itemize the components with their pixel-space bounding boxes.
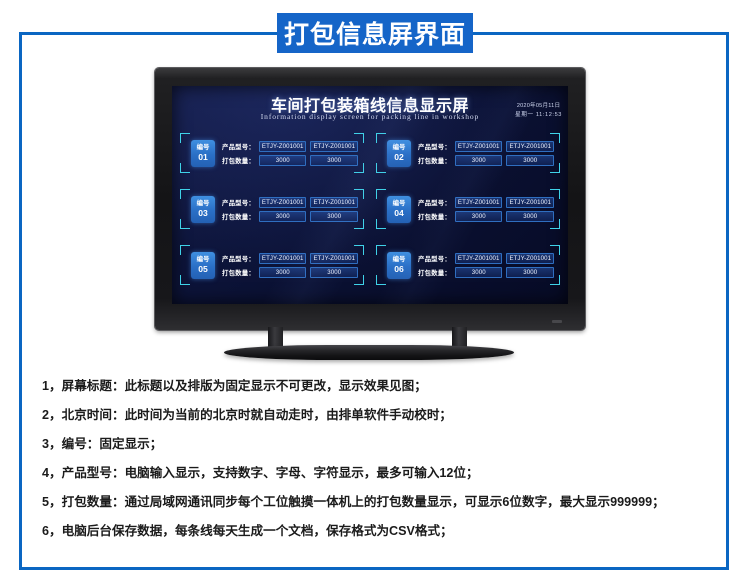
card-number-value: 03 (198, 209, 208, 218)
corner-bracket-icon (376, 245, 386, 255)
card-number-label: 编号 (197, 145, 210, 151)
model-value-a: ETJY-Z001001 (259, 141, 307, 152)
tv-power-indicator-icon (552, 320, 562, 323)
corner-bracket-icon (550, 133, 560, 143)
card-number-label: 编号 (393, 201, 406, 207)
quantity-value-a: 3000 (259, 211, 307, 222)
screen-header: 车间打包装箱线信息显示屏 Information display screen … (172, 86, 568, 133)
screen-clock: 2020年05月11日 星期一 11:12:53 (515, 102, 562, 120)
corner-bracket-icon (354, 163, 364, 173)
quantity-value-a: 3000 (259, 267, 307, 278)
card-number-badge: 编号 01 (191, 140, 215, 167)
card-number-badge: 编号 04 (387, 196, 411, 223)
model-label: 产品型号： (418, 198, 451, 207)
model-value-b: ETJY-Z001001 (506, 197, 554, 208)
corner-bracket-icon (354, 189, 364, 199)
model-value-a: ETJY-Z001001 (455, 197, 503, 208)
model-row: 产品型号： ETJY-Z001001 ETJY-Z001001 (418, 253, 554, 264)
model-value-b: ETJY-Z001001 (506, 141, 554, 152)
quantity-row: 打包数量： 3000 3000 (418, 155, 554, 166)
model-label: 产品型号： (418, 142, 451, 151)
model-label: 产品型号： (222, 254, 255, 263)
corner-bracket-icon (550, 163, 560, 173)
corner-bracket-icon (354, 219, 364, 229)
corner-bracket-icon (550, 219, 560, 229)
card-fields: 产品型号： ETJY-Z001001 ETJY-Z001001 打包数量： 30… (222, 141, 358, 166)
corner-bracket-icon (354, 133, 364, 143)
model-value-b: ETJY-Z001001 (506, 253, 554, 264)
tv-illustration: 车间打包装箱线信息显示屏 Information display screen … (155, 68, 585, 365)
card-number-badge: 编号 02 (387, 140, 411, 167)
packing-card: 编号 05 产品型号： ETJY-Z001001 ETJY-Z001001 打包… (180, 245, 364, 285)
quantity-label: 打包数量： (418, 268, 451, 277)
quantity-value-a: 3000 (455, 267, 503, 278)
card-number-value: 06 (394, 265, 404, 274)
quantity-row: 打包数量： 3000 3000 (222, 267, 358, 278)
corner-bracket-icon (180, 189, 190, 199)
corner-bracket-icon (180, 219, 190, 229)
quantity-row: 打包数量： 3000 3000 (222, 211, 358, 222)
corner-bracket-icon (550, 245, 560, 255)
quantity-value-b: 3000 (310, 267, 358, 278)
corner-bracket-icon (376, 189, 386, 199)
tv-bezel: 车间打包装箱线信息显示屏 Information display screen … (155, 68, 585, 330)
packing-card: 编号 02 产品型号： ETJY-Z001001 ETJY-Z001001 打包… (376, 133, 560, 173)
quantity-value-b: 3000 (506, 155, 554, 166)
page-header: 打包信息屏界面 (0, 0, 750, 66)
card-number-value: 04 (394, 209, 404, 218)
packing-card: 编号 06 产品型号： ETJY-Z001001 ETJY-Z001001 打包… (376, 245, 560, 285)
packing-card: 编号 01 产品型号： ETJY-Z001001 ETJY-Z001001 打包… (180, 133, 364, 173)
tv-stand-base (224, 345, 514, 360)
quantity-row: 打包数量： 3000 3000 (222, 155, 358, 166)
card-number-label: 编号 (197, 201, 210, 207)
model-value-b: ETJY-Z001001 (310, 253, 358, 264)
model-value-a: ETJY-Z001001 (455, 253, 503, 264)
corner-bracket-icon (376, 219, 386, 229)
packing-card: 编号 03 产品型号： ETJY-Z001001 ETJY-Z001001 打包… (180, 189, 364, 229)
corner-bracket-icon (354, 275, 364, 285)
quantity-value-a: 3000 (455, 155, 503, 166)
quantity-value-b: 3000 (506, 267, 554, 278)
card-fields: 产品型号： ETJY-Z001001 ETJY-Z001001 打包数量： 30… (418, 253, 554, 278)
quantity-row: 打包数量： 3000 3000 (418, 267, 554, 278)
packing-line-card-grid: 编号 01 产品型号： ETJY-Z001001 ETJY-Z001001 打包… (180, 133, 560, 285)
page-title: 打包信息屏界面 (277, 13, 473, 53)
model-value-b: ETJY-Z001001 (310, 141, 358, 152)
model-row: 产品型号： ETJY-Z001001 ETJY-Z001001 (418, 197, 554, 208)
model-label: 产品型号： (222, 142, 255, 151)
quantity-label: 打包数量： (222, 212, 255, 221)
quantity-label: 打包数量： (222, 268, 255, 277)
model-row: 产品型号： ETJY-Z001001 ETJY-Z001001 (222, 253, 358, 264)
model-row: 产品型号： ETJY-Z001001 ETJY-Z001001 (222, 197, 358, 208)
corner-bracket-icon (180, 245, 190, 255)
model-label: 产品型号： (222, 198, 255, 207)
card-number-value: 02 (394, 153, 404, 162)
packing-card: 编号 04 产品型号： ETJY-Z001001 ETJY-Z001001 打包… (376, 189, 560, 229)
card-fields: 产品型号： ETJY-Z001001 ETJY-Z001001 打包数量： 30… (222, 197, 358, 222)
tv-screen: 车间打包装箱线信息显示屏 Information display screen … (172, 86, 568, 304)
card-number-label: 编号 (393, 145, 406, 151)
corner-bracket-icon (180, 163, 190, 173)
clock-time: 星期一 11:12:53 (515, 111, 562, 120)
corner-bracket-icon (376, 163, 386, 173)
quantity-label: 打包数量： (222, 156, 255, 165)
note-item: 5，打包数量：通过局域网通讯同步每个工位触摸一体机上的打包数量显示，可显示6位数… (42, 488, 714, 517)
card-number-badge: 编号 03 (191, 196, 215, 223)
note-item: 3，编号：固定显示； (42, 430, 714, 459)
card-number-badge: 编号 06 (387, 252, 411, 279)
card-number-value: 01 (198, 153, 208, 162)
screen-subtitle: Information display screen for packing l… (172, 112, 568, 121)
quantity-row: 打包数量： 3000 3000 (418, 211, 554, 222)
quantity-value-a: 3000 (259, 155, 307, 166)
card-fields: 产品型号： ETJY-Z001001 ETJY-Z001001 打包数量： 30… (418, 197, 554, 222)
quantity-value-b: 3000 (310, 155, 358, 166)
corner-bracket-icon (354, 245, 364, 255)
corner-bracket-icon (550, 275, 560, 285)
model-value-a: ETJY-Z001001 (259, 253, 307, 264)
quantity-value-a: 3000 (455, 211, 503, 222)
model-label: 产品型号： (418, 254, 451, 263)
model-value-b: ETJY-Z001001 (310, 197, 358, 208)
card-number-value: 05 (198, 265, 208, 274)
model-row: 产品型号： ETJY-Z001001 ETJY-Z001001 (222, 141, 358, 152)
quantity-value-b: 3000 (310, 211, 358, 222)
card-number-label: 编号 (393, 257, 406, 263)
corner-bracket-icon (376, 275, 386, 285)
clock-date: 2020年05月11日 (515, 102, 562, 111)
card-fields: 产品型号： ETJY-Z001001 ETJY-Z001001 打包数量： 30… (418, 141, 554, 166)
specification-notes: 1，屏幕标题：此标题以及排版为固定显示不可更改，显示效果见图； 2，北京时间：此… (42, 372, 714, 546)
quantity-label: 打包数量： (418, 156, 451, 165)
corner-bracket-icon (180, 133, 190, 143)
header-rule-right (473, 32, 729, 35)
note-item: 4，产品型号：电脑输入显示，支持数字、字母、字符显示，最多可输入12位； (42, 459, 714, 488)
quantity-value-b: 3000 (506, 211, 554, 222)
note-item: 2，北京时间：此时间为当前的北京时就自动走时，由排单软件手动校时； (42, 401, 714, 430)
model-value-a: ETJY-Z001001 (455, 141, 503, 152)
corner-bracket-icon (180, 275, 190, 285)
model-row: 产品型号： ETJY-Z001001 ETJY-Z001001 (418, 141, 554, 152)
card-number-label: 编号 (197, 257, 210, 263)
note-item: 6，电脑后台保存数据，每条线每天生成一个文档，保存格式为CSV格式； (42, 517, 714, 546)
note-item: 1，屏幕标题：此标题以及排版为固定显示不可更改，显示效果见图； (42, 372, 714, 401)
corner-bracket-icon (376, 133, 386, 143)
card-fields: 产品型号： ETJY-Z001001 ETJY-Z001001 打包数量： 30… (222, 253, 358, 278)
corner-bracket-icon (550, 189, 560, 199)
quantity-label: 打包数量： (418, 212, 451, 221)
header-rule-left (19, 32, 277, 35)
card-number-badge: 编号 05 (191, 252, 215, 279)
model-value-a: ETJY-Z001001 (259, 197, 307, 208)
